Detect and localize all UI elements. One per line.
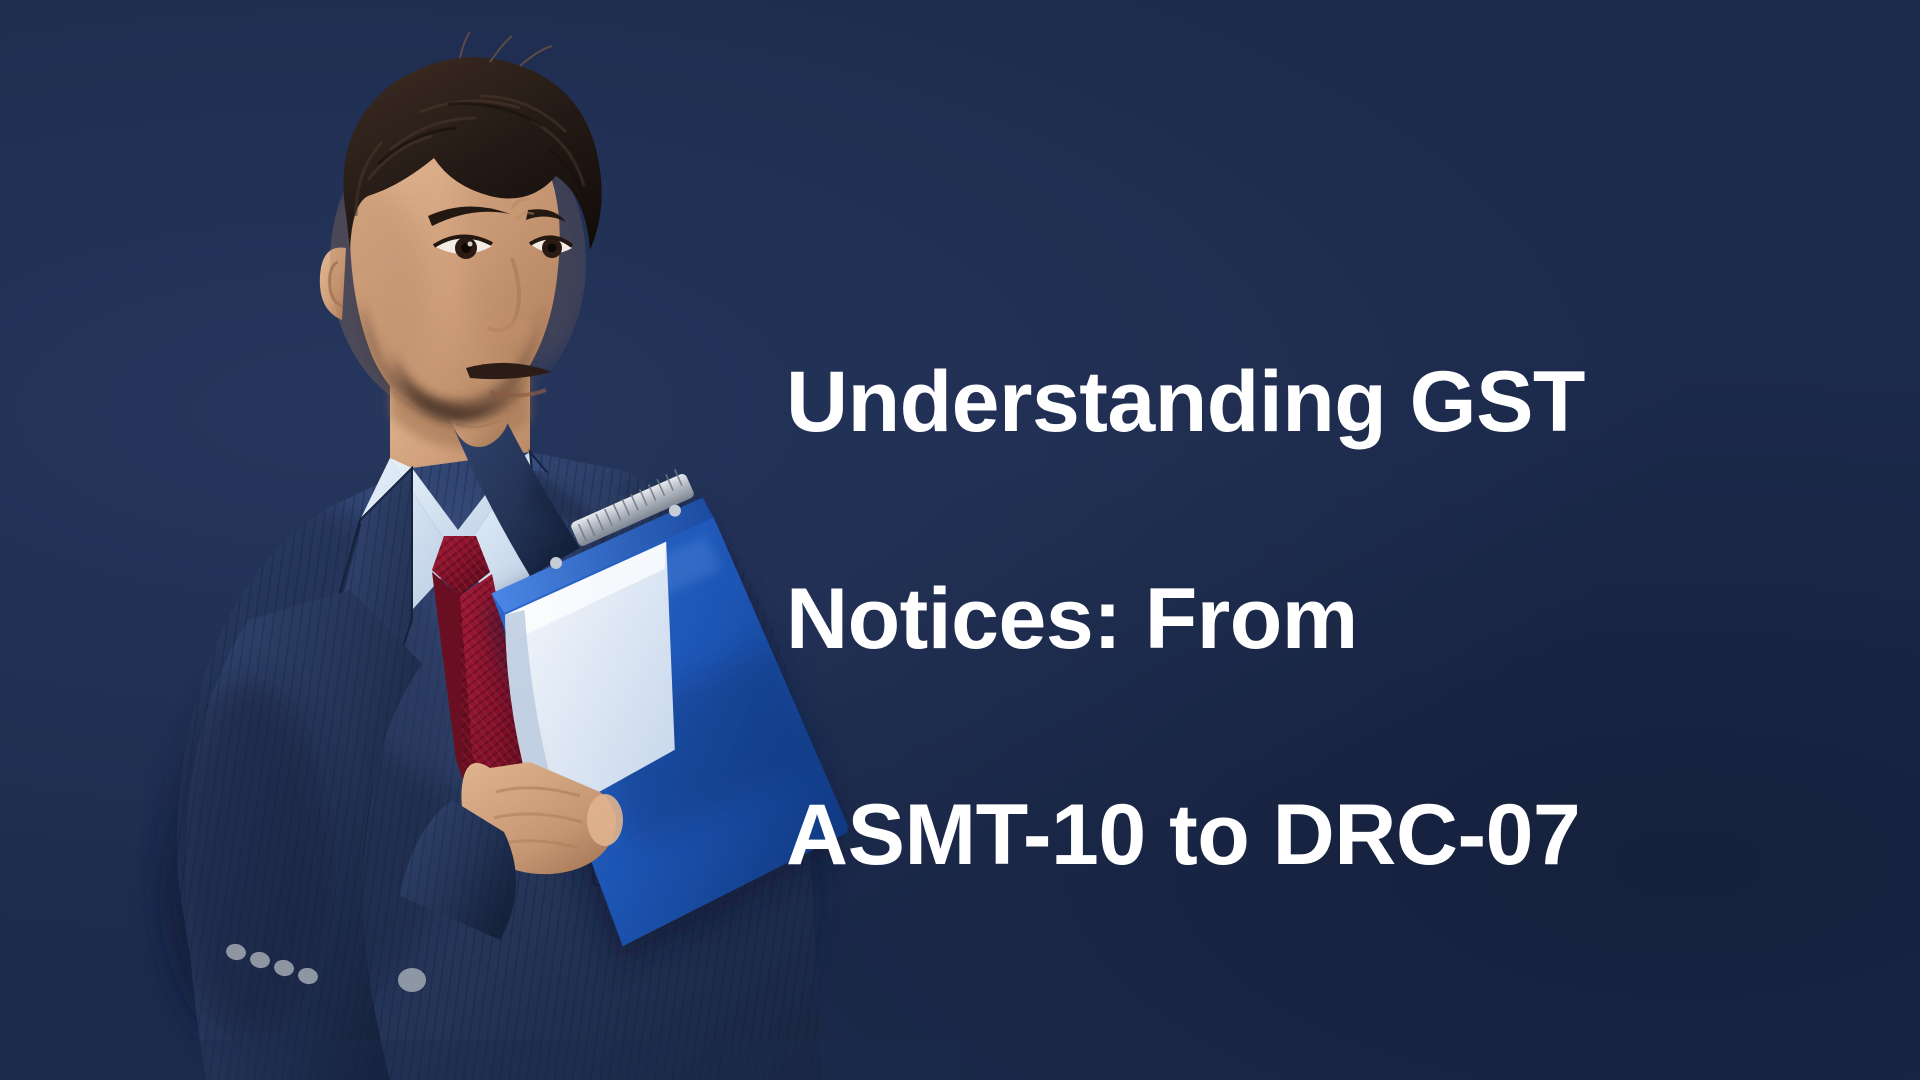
banner-canvas: Understanding GST Notices: From ASMT-10 …: [0, 0, 1920, 1080]
headline-line-2: Notices: From: [786, 565, 1706, 673]
headline-line-3: ASMT-10 to DRC-07: [786, 781, 1706, 889]
jacket-button: [398, 968, 426, 992]
headline-line-1: Understanding GST: [786, 348, 1706, 456]
head: [290, 32, 602, 424]
page-title: Understanding GST Notices: From ASMT-10 …: [786, 240, 1706, 999]
